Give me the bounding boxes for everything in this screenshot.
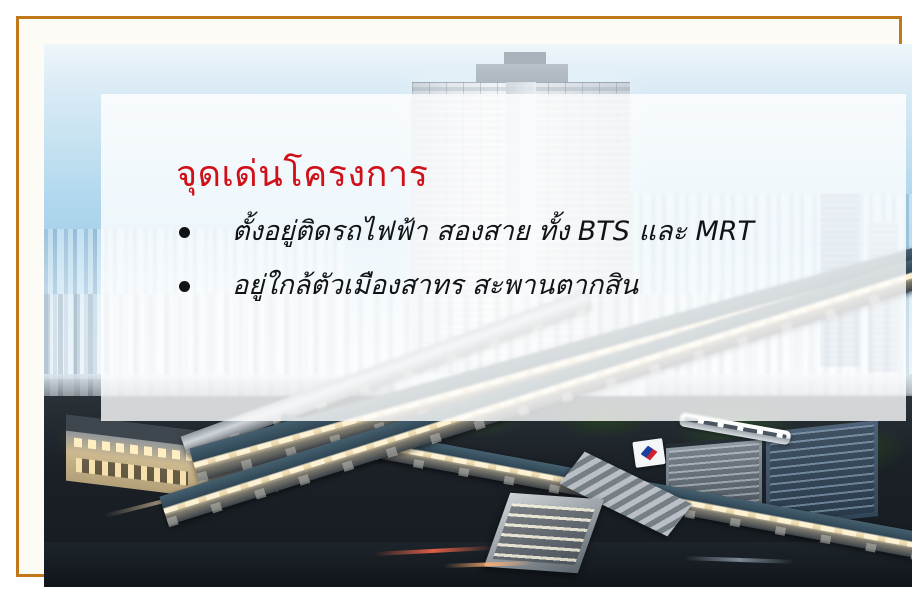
station-logo-sign — [632, 438, 665, 468]
low-building-window-row-lower — [76, 458, 188, 486]
list-item-label: ตั้งอยู่ติดรถไฟฟ้า สองสาย ทั้ง BTS และ M… — [232, 214, 754, 250]
highlights-list: ตั้งอยู่ติดรถไฟฟ้า สองสาย ทั้ง BTS และ M… — [179, 214, 889, 321]
list-item: อยู่ใกล้ตัวเมืองสาทร สะพานตากสิน — [179, 268, 889, 304]
bullet-dot-icon — [179, 227, 190, 238]
rail-logo-icon — [640, 444, 659, 461]
background-photo: จุดเด่นโครงการ ตั้งอยู่ติดรถไฟฟ้า สองสาย… — [44, 44, 912, 587]
content-overlay-panel: จุดเด่นโครงการ ตั้งอยู่ติดรถไฟฟ้า สองสาย… — [101, 94, 906, 421]
page-title: จุดเด่นโครงการ — [176, 154, 428, 195]
list-item-label: อยู่ใกล้ตัวเมืองสาทร สะพานตากสิน — [232, 268, 638, 304]
list-item: ตั้งอยู่ติดรถไฟฟ้า สองสาย ทั้ง BTS และ M… — [179, 214, 889, 250]
bullet-dot-icon — [179, 281, 190, 292]
promo-slide: จุดเด่นโครงการ ตั้งอยู่ติดรถไฟฟ้า สองสาย… — [0, 0, 918, 593]
slide-frame-border: จุดเด่นโครงการ ตั้งอยู่ติดรถไฟฟ้า สองสาย… — [16, 16, 902, 577]
